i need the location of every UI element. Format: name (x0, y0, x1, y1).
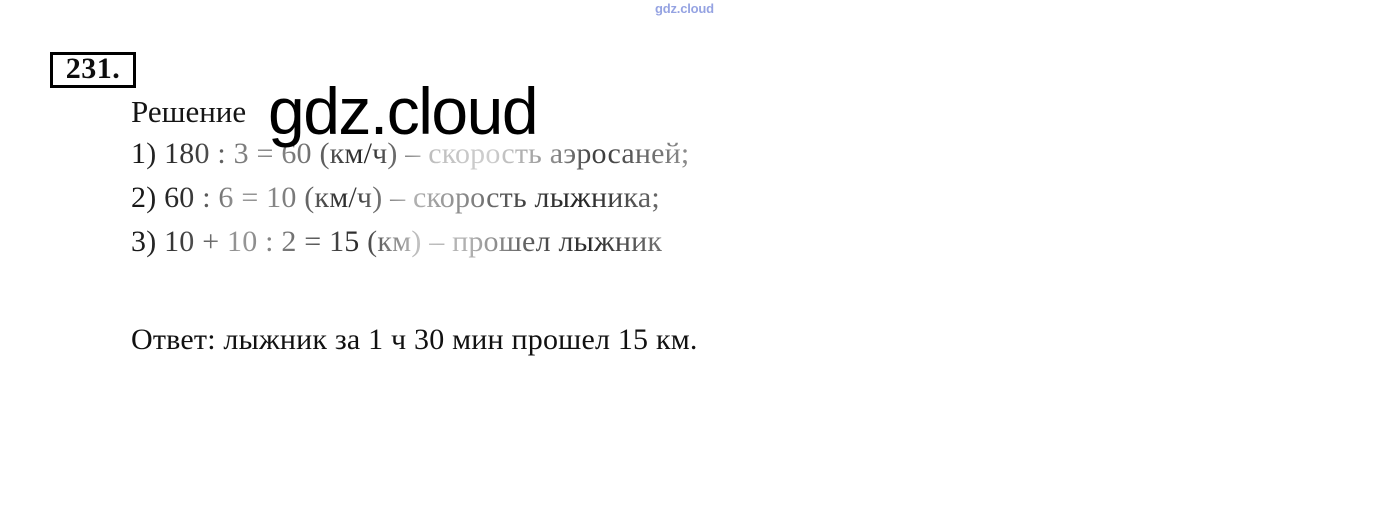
exercise-number-box: 231. (50, 52, 136, 88)
exercise-number-label: 231. (66, 54, 121, 84)
solution-heading: Решение (131, 92, 1031, 132)
document-page: gdz.cloud 231. Решение 1) 180 : 3 = 60 (… (0, 0, 1400, 507)
solution-step-3: 3) 10 + 10 : 2 = 15 (км) – прошел лыжник (131, 220, 1031, 264)
solution-step-1: 1) 180 : 3 = 60 (км/ч) – скорость аэроса… (131, 132, 1031, 176)
solution-answer: Ответ: лыжник за 1 ч 30 мин прошел 15 км… (131, 318, 698, 362)
watermark-large: gdz.cloud (268, 78, 537, 144)
watermark-small: gdz.cloud (655, 1, 714, 16)
solution-step-2: 2) 60 : 6 = 10 (км/ч) – скорость лыжника… (131, 176, 1031, 220)
solution-block: Решение 1) 180 : 3 = 60 (км/ч) – скорост… (131, 92, 1031, 264)
